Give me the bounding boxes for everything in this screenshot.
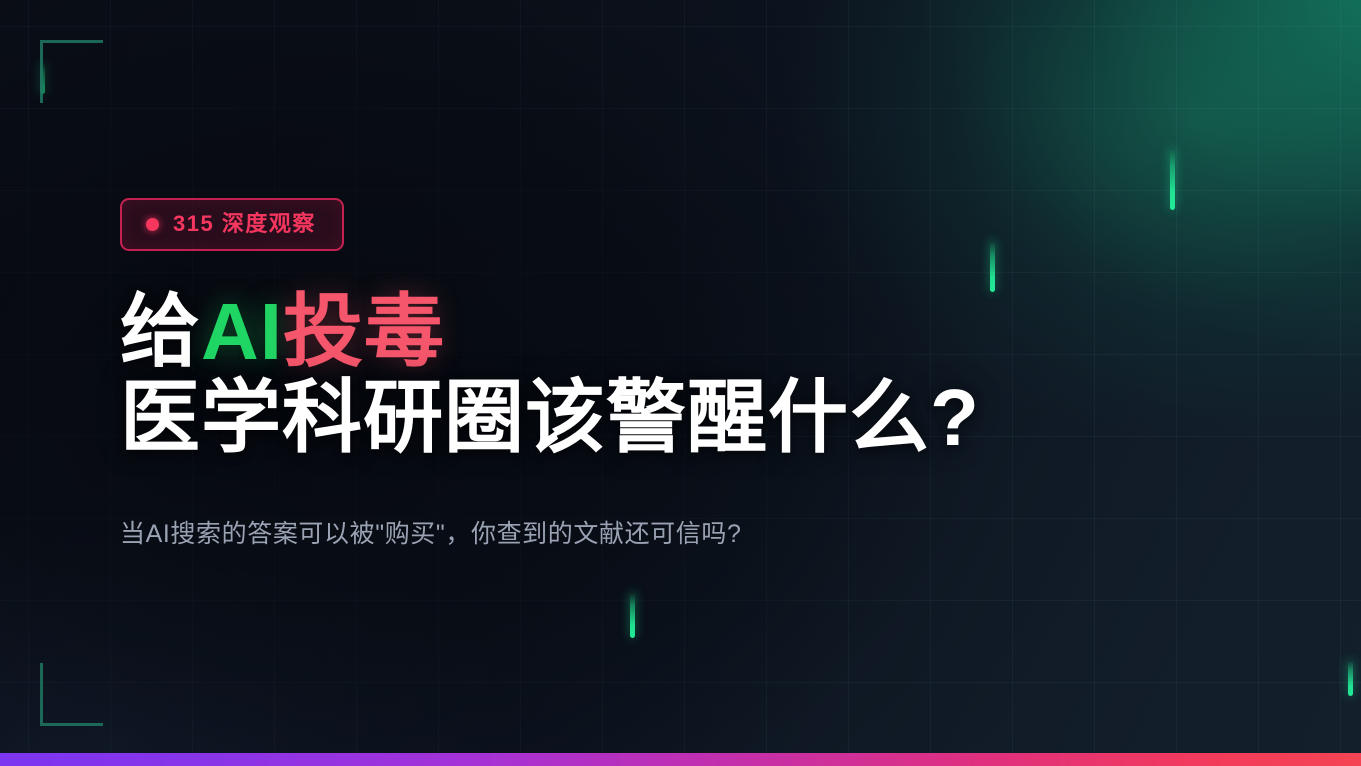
data-streak: [630, 592, 635, 638]
headline-line-1: 给AI投毒: [120, 289, 1240, 375]
headline-segment-ai: AI: [201, 287, 283, 376]
bullet-dot-icon: [146, 218, 159, 231]
headline-line-2: 医学科研圈该警醒什么?: [120, 375, 1240, 461]
page-title: 给AI投毒 医学科研圈该警醒什么?: [120, 289, 1240, 460]
corner-bracket-top-left-icon: [40, 40, 103, 103]
badge-label: 315 深度观察: [173, 213, 316, 235]
poster-content: 315 深度观察 给AI投毒 医学科研圈该警醒什么? 当AI搜索的答案可以被"购…: [120, 198, 1240, 575]
badge-315-observation: 315 深度观察: [120, 198, 344, 251]
poster-canvas: 315 深度观察 给AI投毒 医学科研圈该警醒什么? 当AI搜索的答案可以被"购…: [0, 0, 1361, 766]
headline-segment-toudu: 投毒: [283, 287, 445, 376]
data-streak: [1348, 660, 1353, 696]
subtitle-text: 当AI搜索的答案可以被"购买"，你查到的文献还可信吗?: [120, 514, 1240, 550]
corner-bracket-bottom-left-icon: [40, 663, 103, 726]
bottom-accent-bar: [0, 753, 1361, 766]
headline-segment-gei: 给: [120, 287, 201, 376]
